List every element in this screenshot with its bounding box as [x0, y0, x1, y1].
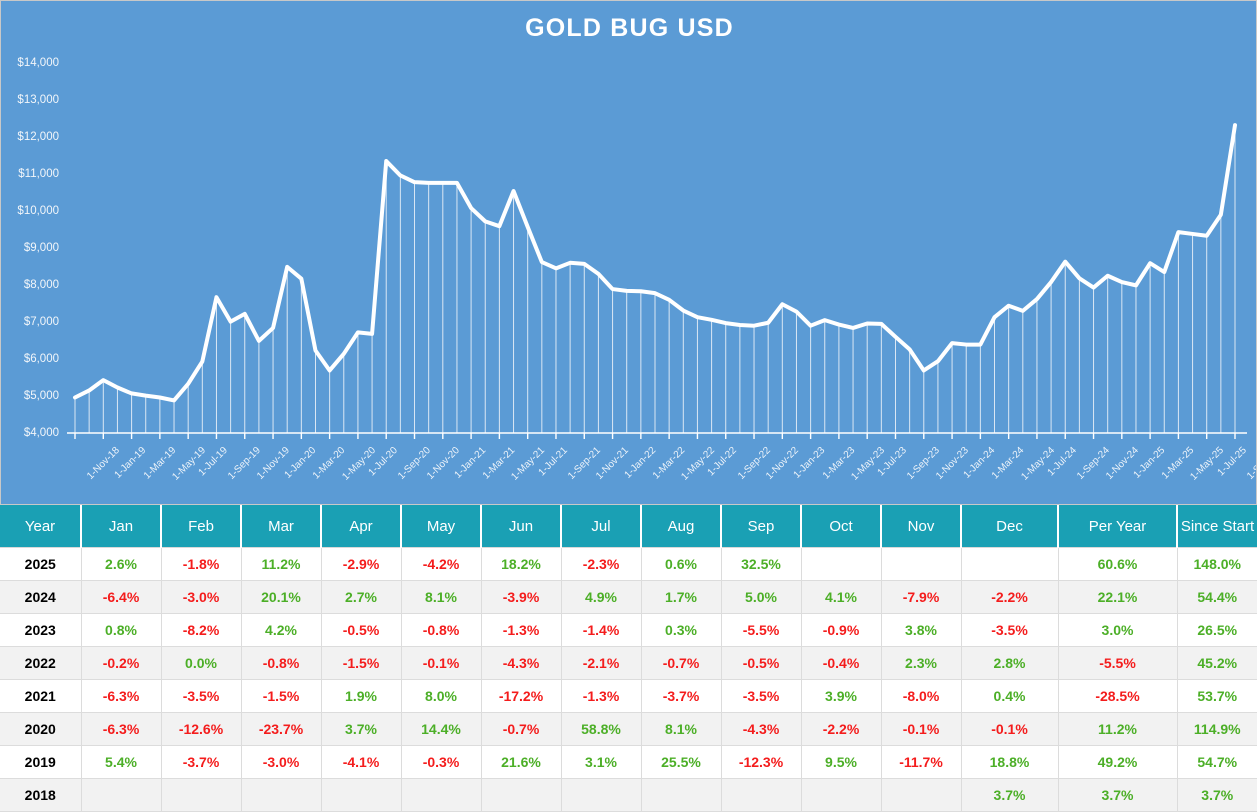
- table-cell-return: -4.1%: [321, 746, 401, 779]
- table-cell-return: 2.8%: [961, 647, 1058, 680]
- table-cell-return: -0.7%: [481, 713, 561, 746]
- y-axis-tick-label: $14,000: [17, 57, 59, 69]
- table-cell-return: 3.8%: [881, 614, 961, 647]
- table-cell-return: 49.2%: [1058, 746, 1177, 779]
- table-cell-return: -17.2%: [481, 680, 561, 713]
- table-cell-return: 4.2%: [241, 614, 321, 647]
- monthly-returns-table: YearJanFebMarAprMayJunJulAugSepOctNovDec…: [0, 505, 1257, 812]
- table-cell-return: 54.4%: [1177, 581, 1257, 614]
- table-header-per-year[interactable]: Per Year: [1058, 505, 1177, 548]
- table-cell-return: 3.1%: [561, 746, 641, 779]
- table-cell-return: -2.2%: [961, 581, 1058, 614]
- table-cell-return: -3.0%: [161, 581, 241, 614]
- table-cell-return: 4.1%: [801, 581, 881, 614]
- table-cell-return: -0.1%: [401, 647, 481, 680]
- table-cell-return: -0.5%: [321, 614, 401, 647]
- table-cell-return: 32.5%: [721, 548, 801, 581]
- table-cell-return: 5.4%: [81, 746, 161, 779]
- x-axis-labels: 1-Nov-181-Jan-191-Mar-191-May-191-Jul-19…: [67, 1, 1247, 505]
- table-cell-return: -0.3%: [401, 746, 481, 779]
- table-cell-return: -0.8%: [401, 614, 481, 647]
- table-cell-return: 18.2%: [481, 548, 561, 581]
- table-header-aug[interactable]: Aug: [641, 505, 721, 548]
- table-cell-return: [961, 548, 1058, 581]
- table-cell-return: -0.1%: [961, 713, 1058, 746]
- table-cell-return: -0.5%: [721, 647, 801, 680]
- table-cell-return: 3.9%: [801, 680, 881, 713]
- table-header-mar[interactable]: Mar: [241, 505, 321, 548]
- table-cell-return: 8.1%: [401, 581, 481, 614]
- table-cell-return: -8.2%: [161, 614, 241, 647]
- table-header-dec[interactable]: Dec: [961, 505, 1058, 548]
- table-cell-return: 54.7%: [1177, 746, 1257, 779]
- table-cell-return: -2.1%: [561, 647, 641, 680]
- table-cell-return: 25.5%: [641, 746, 721, 779]
- returns-table-wrap: YearJanFebMarAprMayJunJulAugSepOctNovDec…: [0, 505, 1257, 807]
- table-header-row: YearJanFebMarAprMayJunJulAugSepOctNovDec…: [0, 505, 1257, 548]
- table-cell-return: -28.5%: [1058, 680, 1177, 713]
- gold-bug-usd-dashboard: GOLD BUG USD $4,000$5,000$6,000$7,000$8,…: [0, 0, 1257, 807]
- table-cell-return: -23.7%: [241, 713, 321, 746]
- table-cell-return: 11.2%: [241, 548, 321, 581]
- table-cell-year: 2019: [0, 746, 81, 779]
- table-row: 2022-0.2%0.0%-0.8%-1.5%-0.1%-4.3%-2.1%-0…: [0, 647, 1257, 680]
- table-cell-return: 26.5%: [1177, 614, 1257, 647]
- table-cell-return: -0.9%: [801, 614, 881, 647]
- table-cell-return: 58.8%: [561, 713, 641, 746]
- table-cell-return: 11.2%: [1058, 713, 1177, 746]
- y-axis-tick-label: $7,000: [24, 316, 59, 328]
- table-cell-return: 0.4%: [961, 680, 1058, 713]
- table-cell-year: 2024: [0, 581, 81, 614]
- table-cell-return: [881, 548, 961, 581]
- table-cell-return: 148.0%: [1177, 548, 1257, 581]
- table-cell-return: -0.4%: [801, 647, 881, 680]
- table-cell-return: -3.7%: [161, 746, 241, 779]
- y-axis-tick-label: $8,000: [24, 279, 59, 291]
- table-header-since-start[interactable]: Since Start: [1177, 505, 1257, 548]
- table-cell-return: -3.9%: [481, 581, 561, 614]
- table-cell-return: [801, 548, 881, 581]
- table-cell-return: 114.9%: [1177, 713, 1257, 746]
- table-cell-return: -1.5%: [321, 647, 401, 680]
- table-header-jan[interactable]: Jan: [81, 505, 161, 548]
- y-axis-labels: $4,000$5,000$6,000$7,000$8,000$9,000$10,…: [1, 1, 65, 505]
- table-cell-year: 2022: [0, 647, 81, 680]
- table-cell-return: 0.6%: [641, 548, 721, 581]
- table-cell-return: -5.5%: [721, 614, 801, 647]
- table-cell-return: -3.0%: [241, 746, 321, 779]
- table-cell-return: -4.3%: [721, 713, 801, 746]
- table-cell-return: -3.5%: [721, 680, 801, 713]
- table-cell-return: 1.9%: [321, 680, 401, 713]
- table-header-apr[interactable]: Apr: [321, 505, 401, 548]
- table-cell-return: -3.7%: [641, 680, 721, 713]
- table-cell-return: 3.0%: [1058, 614, 1177, 647]
- table-header-jun[interactable]: Jun: [481, 505, 561, 548]
- table-cell-return: -5.5%: [1058, 647, 1177, 680]
- y-axis-tick-label: $9,000: [24, 242, 59, 254]
- table-header-year[interactable]: Year: [0, 505, 81, 548]
- table-row: 2020-6.3%-12.6%-23.7%3.7%14.4%-0.7%58.8%…: [0, 713, 1257, 746]
- table-cell-return: -2.9%: [321, 548, 401, 581]
- table-cell-return: 5.0%: [721, 581, 801, 614]
- table-cell-return: -11.7%: [881, 746, 961, 779]
- table-cell-return: 20.1%: [241, 581, 321, 614]
- table-cell-return: 1.7%: [641, 581, 721, 614]
- y-axis-tick-label: $5,000: [24, 390, 59, 402]
- table-cell-return: -12.3%: [721, 746, 801, 779]
- y-axis-tick-label: $11,000: [18, 168, 59, 180]
- table-cell-return: 21.6%: [481, 746, 561, 779]
- table-cell-return: -2.3%: [561, 548, 641, 581]
- table-cell-return: -7.9%: [881, 581, 961, 614]
- table-cell-return: -2.2%: [801, 713, 881, 746]
- y-axis-tick-label: $10,000: [17, 205, 59, 217]
- table-row: 20195.4%-3.7%-3.0%-4.1%-0.3%21.6%3.1%25.…: [0, 746, 1257, 779]
- table-cell-year: 2023: [0, 614, 81, 647]
- table-cell-return: 4.9%: [561, 581, 641, 614]
- table-cell-return: 22.1%: [1058, 581, 1177, 614]
- table-cell-return: 45.2%: [1177, 647, 1257, 680]
- table-cell-return: -4.2%: [401, 548, 481, 581]
- table-cell-return: 8.0%: [401, 680, 481, 713]
- table-row: 20252.6%-1.8%11.2%-2.9%-4.2%18.2%-2.3%0.…: [0, 548, 1257, 581]
- y-axis-tick-label: $12,000: [17, 131, 59, 143]
- table-row: 2021-6.3%-3.5%-1.5%1.9%8.0%-17.2%-1.3%-3…: [0, 680, 1257, 713]
- y-axis-tick-label: $6,000: [24, 353, 59, 365]
- table-cell-return: 0.8%: [81, 614, 161, 647]
- table-cell-return: 3.7%: [321, 713, 401, 746]
- table-cell-return: -3.5%: [961, 614, 1058, 647]
- table-cell-return: -1.3%: [481, 614, 561, 647]
- table-cell-return: -6.3%: [81, 713, 161, 746]
- table-cell-return: 2.3%: [881, 647, 961, 680]
- table-cell-return: 2.6%: [81, 548, 161, 581]
- table-cell-return: 0.3%: [641, 614, 721, 647]
- table-cell-return: -12.6%: [161, 713, 241, 746]
- table-row: 2024-6.4%-3.0%20.1%2.7%8.1%-3.9%4.9%1.7%…: [0, 581, 1257, 614]
- y-axis-tick-label: $13,000: [17, 94, 59, 106]
- table-cell-return: -8.0%: [881, 680, 961, 713]
- table-cell-return: -1.5%: [241, 680, 321, 713]
- table-header-sep[interactable]: Sep: [721, 505, 801, 548]
- table-cell-return: 0.0%: [161, 647, 241, 680]
- table-header-may[interactable]: May: [401, 505, 481, 548]
- table-cell-year: 2020: [0, 713, 81, 746]
- table-cell-return: -3.5%: [161, 680, 241, 713]
- table-header-nov[interactable]: Nov: [881, 505, 961, 548]
- chart-panel: GOLD BUG USD $4,000$5,000$6,000$7,000$8,…: [0, 0, 1257, 505]
- table-cell-return: 2.7%: [321, 581, 401, 614]
- y-axis-tick-label: $4,000: [24, 427, 59, 439]
- table-cell-return: 14.4%: [401, 713, 481, 746]
- table-cell-return: -1.8%: [161, 548, 241, 581]
- table-body: 20252.6%-1.8%11.2%-2.9%-4.2%18.2%-2.3%0.…: [0, 548, 1257, 812]
- table-cell-return: -6.4%: [81, 581, 161, 614]
- table-cell-return: 53.7%: [1177, 680, 1257, 713]
- table-cell-return: -0.7%: [641, 647, 721, 680]
- table-cell-return: -6.3%: [81, 680, 161, 713]
- table-cell-return: -0.8%: [241, 647, 321, 680]
- table-cell-return: 8.1%: [641, 713, 721, 746]
- table-cell-return: -0.2%: [81, 647, 161, 680]
- table-cell-return: -1.3%: [561, 680, 641, 713]
- table-cell-return: 9.5%: [801, 746, 881, 779]
- table-cell-return: -1.4%: [561, 614, 641, 647]
- table-row: 20230.8%-8.2%4.2%-0.5%-0.8%-1.3%-1.4%0.3…: [0, 614, 1257, 647]
- table-cell-year: 2025: [0, 548, 81, 581]
- table-cell-year: 2021: [0, 680, 81, 713]
- table-cell-return: 18.8%: [961, 746, 1058, 779]
- table-cell-return: -0.1%: [881, 713, 961, 746]
- table-header-feb[interactable]: Feb: [161, 505, 241, 548]
- table-cell-return: -4.3%: [481, 647, 561, 680]
- table-header-jul[interactable]: Jul: [561, 505, 641, 548]
- table-cell-return: 60.6%: [1058, 548, 1177, 581]
- table-header-oct[interactable]: Oct: [801, 505, 881, 548]
